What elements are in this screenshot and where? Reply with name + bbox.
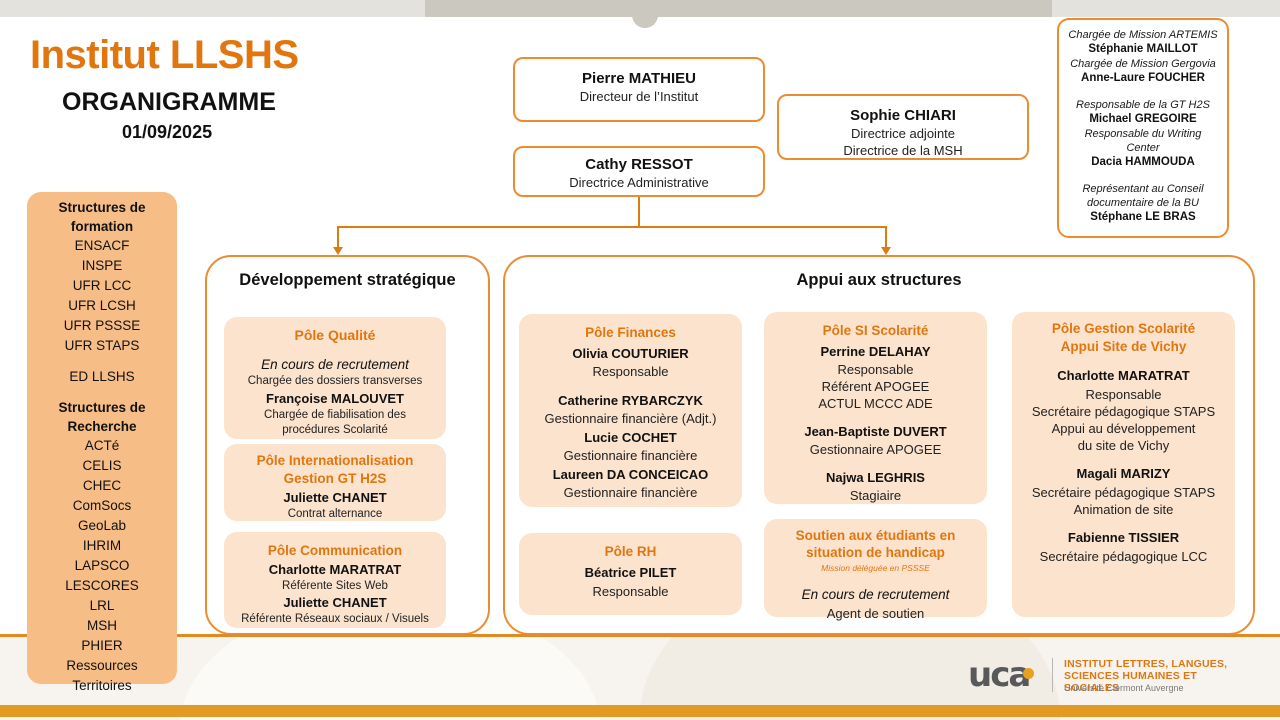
pole-card-communication[interactable]: Pôle Communication Charlotte MARATRATRéf…	[224, 532, 446, 628]
text-line: CELIS	[27, 456, 177, 476]
text-line: Animation de site	[1018, 501, 1229, 518]
text-line: Responsable	[525, 363, 736, 381]
pole-handicap-lines: En cours de recrutementAgent de soutien	[770, 575, 981, 623]
text-line: Gestionnaire financière	[525, 447, 736, 465]
text-line: Secrétaire pédagogique STAPS	[1018, 484, 1229, 501]
pole-card-soutien-handicap[interactable]: Soutien aux étudiants en situation de ha…	[764, 519, 987, 617]
text-line	[770, 575, 981, 585]
text-line: Structures de	[27, 198, 177, 217]
text-line: INSPE	[27, 256, 177, 276]
pole-card-qualite[interactable]: Pôle Qualité En cours de recrutementChar…	[224, 317, 446, 439]
missions-list: Chargée de Mission ARTEMISStéphanie MAIL…	[1065, 28, 1221, 225]
text-line	[525, 381, 736, 391]
text-line: Contrat alternance	[230, 507, 440, 522]
uca-dot-icon	[1023, 668, 1034, 679]
logo-line-3: Université Clermont Auvergne	[1064, 683, 1184, 693]
text-line: Najwa LEGHRIS	[770, 468, 981, 487]
deputy-role-1: Directrice adjointe	[779, 125, 1027, 142]
text-line: Dacia HAMMOUDA	[1065, 155, 1221, 170]
text-line: Magali MARIZY	[1018, 464, 1229, 484]
uca-logo[interactable]: uca INSTITUT LETTRES, LANGUES, SCIENCES …	[968, 654, 1230, 698]
pole-intl-title-2: Gestion GT H2S	[230, 470, 440, 488]
text-line: PHIER	[27, 636, 177, 656]
text-line: Stéphanie MAILLOT	[1065, 42, 1221, 57]
pole-handicap-title: Soutien aux étudiants en	[770, 527, 981, 544]
text-line: ACTé	[27, 436, 177, 456]
pole-si-lines: Perrine DELAHAYResponsableRéférent APOGE…	[770, 342, 981, 504]
text-line: Stagiaire	[770, 487, 981, 504]
pole-vichy-title: Pôle Gestion Scolarité	[1018, 320, 1229, 338]
leader-card-deputy-director[interactable]: Sophie CHIARI Directrice adjointe Direct…	[777, 94, 1029, 160]
text-line: Référente Réseaux sociaux / Visuels	[230, 612, 440, 627]
text-line: MSH	[27, 616, 177, 636]
logo-divider	[1052, 658, 1053, 692]
text-line: ED LLSHS	[27, 367, 177, 387]
pole-finances-lines: Olivia COUTURIERResponsable Catherine RY…	[525, 344, 736, 502]
text-line	[1018, 518, 1229, 528]
text-line: Olivia COUTURIER	[525, 344, 736, 363]
text-line: documentaire de la BU	[1065, 196, 1221, 210]
text-line: Secrétaire pédagogique STAPS	[1018, 403, 1229, 420]
text-line: formation	[27, 217, 177, 236]
text-line: Agent de soutien	[770, 605, 981, 623]
text-line: du site de Vichy	[1018, 437, 1229, 454]
pole-rh-lines: Béatrice PILETResponsable	[525, 563, 736, 601]
connector-horizontal-main	[337, 226, 886, 228]
pole-handicap-subtitle: Mission déléguée en PSSSE	[770, 561, 981, 575]
text-line: Gestionnaire APOGEE	[770, 441, 981, 458]
text-line: Responsable du Writing	[1065, 127, 1221, 141]
text-line: LESCORES	[27, 576, 177, 596]
text-line: Ressources	[27, 656, 177, 676]
connector-vertical-left	[337, 226, 339, 248]
text-line: ComSocs	[27, 496, 177, 516]
text-line: Lucie COCHET	[525, 428, 736, 447]
section-title-dev: Développement stratégique	[207, 271, 488, 290]
pole-comm-lines: Charlotte MARATRATRéférente Sites WebJul…	[230, 561, 440, 627]
text-line	[770, 412, 981, 422]
pole-vichy-title-2: Appui Site de Vichy	[1018, 338, 1229, 356]
text-line: UFR PSSSE	[27, 316, 177, 336]
text-line: Françoise MALOUVET	[230, 389, 440, 408]
text-line	[27, 387, 177, 398]
pole-card-rh[interactable]: Pôle RH Béatrice PILETResponsable	[519, 533, 742, 615]
text-line: UFR LCSH	[27, 296, 177, 316]
text-line: Chargée de Mission Gergovia	[1065, 57, 1221, 71]
text-line: Gestionnaire financière	[525, 484, 736, 502]
text-line: Michael GREGOIRE	[1065, 112, 1221, 127]
text-line: Charlotte MARATRAT	[1018, 366, 1229, 386]
text-line: Anne-Laure FOUCHER	[1065, 71, 1221, 86]
text-line: Territoires	[27, 676, 177, 696]
pole-card-finances[interactable]: Pôle Finances Olivia COUTURIERResponsabl…	[519, 314, 742, 507]
text-line: UFR LCC	[27, 276, 177, 296]
section-title-appui: Appui aux structures	[505, 271, 1253, 290]
text-line: Béatrice PILET	[525, 563, 736, 583]
text-line	[230, 345, 440, 355]
pole-qualite-title: Pôle Qualité	[230, 325, 440, 345]
pole-rh-title: Pôle RH	[525, 541, 736, 563]
scrollbar-handle-notch[interactable]	[632, 15, 658, 28]
logo-line-1: INSTITUT LETTRES, LANGUES,	[1064, 658, 1227, 670]
director-role: Directeur de l’Institut	[515, 88, 763, 105]
admin-role: Directrice Administrative	[515, 174, 763, 191]
page-subtitle: ORGANIGRAMME	[62, 88, 276, 117]
text-line: Chargée de fiabilisation des	[230, 408, 440, 423]
text-line: En cours de recrutement	[230, 355, 440, 374]
text-line: Responsable de la GT H2S	[1065, 98, 1221, 112]
text-line: Jean-Baptiste DUVERT	[770, 422, 981, 441]
text-line: ENSACF	[27, 236, 177, 256]
pole-intl-lines: Juliette CHANETContrat alternance	[230, 488, 440, 522]
text-line: Chargée des dossiers transverses	[230, 374, 440, 389]
pole-card-internationalisation[interactable]: Pôle Internationalisation Gestion GT H2S…	[224, 444, 446, 521]
text-line: Fabienne TISSIER	[1018, 528, 1229, 548]
pole-card-si-scolarite[interactable]: Pôle SI Scolarité Perrine DELAHAYRespons…	[764, 312, 987, 504]
connector-arrow-left	[333, 247, 343, 255]
footer-orange-rule	[0, 705, 1280, 717]
text-line: Représentant au Conseil	[1065, 182, 1221, 196]
text-line	[1018, 356, 1229, 366]
text-line: Responsable	[1018, 386, 1229, 403]
missions-card[interactable]: Chargée de Mission ARTEMISStéphanie MAIL…	[1057, 18, 1229, 238]
text-line: Référente Sites Web	[230, 579, 440, 594]
text-line: Chargée de Mission ARTEMIS	[1065, 28, 1221, 42]
text-line	[1018, 454, 1229, 464]
text-line: Center	[1065, 141, 1221, 155]
text-line	[770, 458, 981, 468]
text-line: Gestionnaire financière (Adjt.)	[525, 410, 736, 428]
text-line: procédures Scolarité	[230, 423, 440, 438]
text-line: Responsable	[770, 361, 981, 378]
text-line: Référent APOGEE	[770, 378, 981, 395]
text-line: UFR STAPS	[27, 336, 177, 356]
pole-finances-title: Pôle Finances	[525, 322, 736, 344]
deputy-role-2: Directrice de la MSH	[779, 142, 1027, 159]
text-line: Responsable	[525, 583, 736, 601]
text-line: GeoLab	[27, 516, 177, 536]
text-line: ACTUL MCCC ADE	[770, 395, 981, 412]
pole-vichy-lines: Charlotte MARATRATResponsableSecrétaire …	[1018, 356, 1229, 565]
text-line: Juliette CHANET	[230, 488, 440, 507]
text-line: Recherche	[27, 417, 177, 436]
organigramme-page: Institut LLSHS ORGANIGRAMME 01/09/2025 P…	[0, 0, 1280, 720]
pole-card-gestion-scolarite-vichy[interactable]: Pôle Gestion Scolarité Appui Site de Vic…	[1012, 312, 1235, 617]
pole-si-title: Pôle SI Scolarité	[770, 320, 981, 342]
connector-vertical-right	[885, 226, 887, 248]
text-line: Appui au développement	[1018, 420, 1229, 437]
director-name: Pierre MATHIEU	[515, 69, 763, 88]
text-line: Perrine DELAHAY	[770, 342, 981, 361]
pole-handicap-title-2: situation de handicap	[770, 544, 981, 561]
pole-qualite-lines: En cours de recrutementChargée des dossi…	[230, 345, 440, 438]
text-line: En cours de recrutement	[770, 585, 981, 605]
text-line: Structures de	[27, 398, 177, 417]
text-line	[27, 356, 177, 367]
text-line: Juliette CHANET	[230, 594, 440, 612]
admin-name: Cathy RESSOT	[515, 155, 763, 174]
pole-intl-title: Pôle Internationalisation	[230, 452, 440, 470]
leader-card-director[interactable]: Pierre MATHIEU Directeur de l’Institut	[513, 57, 765, 122]
structures-sidebar[interactable]: Structures deformationENSACFINSPEUFR LCC…	[27, 192, 177, 684]
page-date: 01/09/2025	[122, 122, 212, 143]
text-line: IHRIM	[27, 536, 177, 556]
connector-arrow-right	[881, 247, 891, 255]
text-line	[1065, 86, 1221, 98]
leader-card-administrative-director[interactable]: Cathy RESSOT Directrice Administrative	[513, 146, 765, 197]
structures-list: Structures deformationENSACFINSPEUFR LCC…	[27, 198, 177, 696]
horizontal-scrollbar-thumb[interactable]	[425, 0, 1052, 17]
deputy-name: Sophie CHIARI	[779, 106, 1027, 125]
pole-comm-title: Pôle Communication	[230, 540, 440, 561]
text-line: LRL	[27, 596, 177, 616]
text-line: Charlotte MARATRAT	[230, 561, 440, 579]
text-line	[1065, 170, 1221, 182]
page-title: Institut LLSHS	[30, 33, 299, 78]
text-line: Laureen DA CONCEICAO	[525, 465, 736, 484]
text-line: CHEC	[27, 476, 177, 496]
text-line: Stéphane LE BRAS	[1065, 210, 1221, 225]
text-line: LAPSCO	[27, 556, 177, 576]
text-line: Catherine RYBARCZYK	[525, 391, 736, 410]
connector-vertical-main	[638, 197, 640, 226]
text-line: Secrétaire pédagogique LCC	[1018, 548, 1229, 565]
